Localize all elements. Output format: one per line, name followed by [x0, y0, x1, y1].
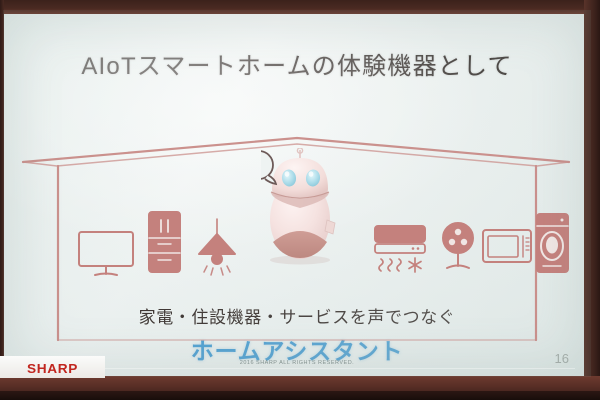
- pendant-lamp-icon: [199, 219, 235, 275]
- sharp-logo: SHARP: [0, 361, 108, 376]
- air-conditioner-icon: [375, 226, 425, 272]
- screen-frame-bottom-shadow: [0, 391, 600, 400]
- home-assistant-robot: [261, 148, 339, 270]
- television-icon: [79, 232, 133, 275]
- washing-machine-icon: [537, 214, 568, 272]
- refrigerator-icon: [149, 212, 180, 272]
- snowflake-icon: [409, 258, 421, 272]
- electric-fan-icon: [443, 223, 473, 268]
- footer-rule: [105, 368, 575, 369]
- presentation-slide: AIoTスマートホームの体験機器として: [3, 10, 591, 377]
- robot-arm: [325, 220, 335, 234]
- projector-screen-photo: AIoTスマートホームの体験機器として: [0, 0, 600, 400]
- speech-bubble: [261, 151, 276, 184]
- microwave-oven-icon: [483, 230, 531, 262]
